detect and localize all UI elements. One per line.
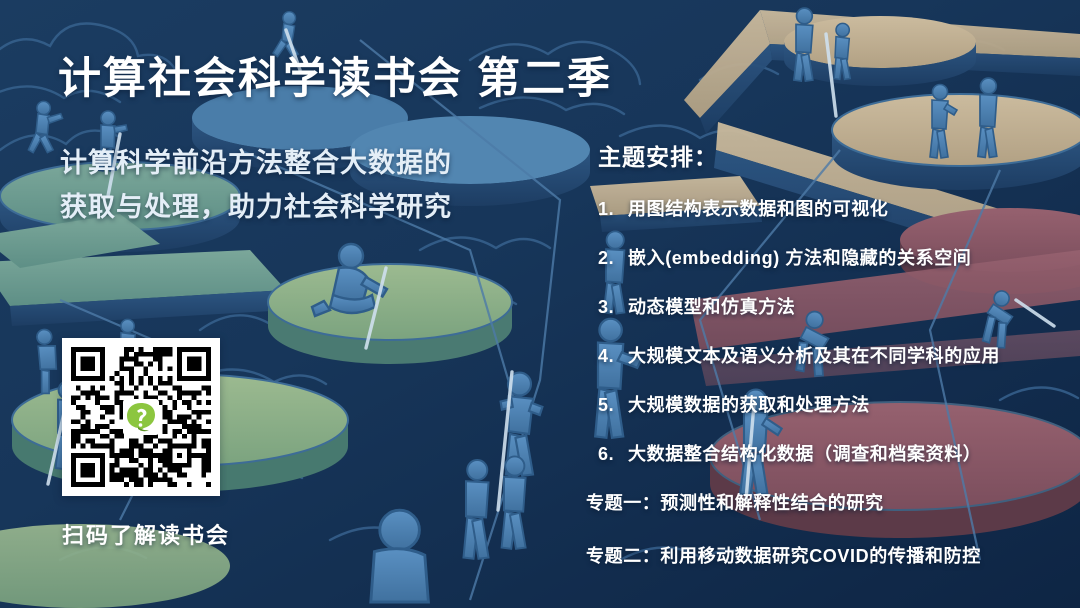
qr-center-logo [123,399,159,435]
agenda-item-3: 3. 动态模型和仿真方法 [598,293,1068,319]
page-subtitle: 计算科学前沿方法整合大数据的 获取与处理，助力社会科学研究 [60,142,452,229]
agenda-item-number: 4. [598,346,628,367]
agenda-item-2: 2. 嵌入(embedding) 方法和隐藏的关系空间 [598,244,1068,270]
agenda-special-topic-2: 专题二：利用移动数据研究COVID的传播和防控 [586,542,1068,568]
subtitle-line-1: 计算科学前沿方法整合大数据的 [60,142,452,186]
agenda-item-5: 5. 大规模数据的获取和处理方法 [598,391,1068,417]
agenda-special-topic-1: 专题一：预测性和解释性结合的研究 [586,489,1068,515]
qr-block: 扫码了解读书会 [62,338,230,550]
agenda-item-4: 4. 大规模文本及语义分析及其在不同学科的应用 [598,342,1068,368]
agenda-item-number: 2. [598,248,628,269]
agenda-item-number: 5. [598,395,628,416]
poster-canvas: 计算社会科学读书会 第二季 计算科学前沿方法整合大数据的 获取与处理，助力社会科… [0,0,1080,608]
content-layer: 计算社会科学读书会 第二季 计算科学前沿方法整合大数据的 获取与处理，助力社会科… [0,0,1080,608]
agenda-item-label: 动态模型和仿真方法 [628,293,795,319]
subtitle-line-2: 获取与处理，助力社会科学研究 [60,186,452,230]
qr-code[interactable] [62,338,220,496]
agenda-heading: 主题安排： [598,138,1068,172]
agenda-item-label: 大规模文本及语义分析及其在不同学科的应用 [628,342,1000,368]
agenda-section: 主题安排： 1. 用图结构表示数据和图的可视化 2. 嵌入(embedding)… [598,138,1068,568]
agenda-item-label: 大数据整合结构化数据（调查和档案资料） [628,440,981,466]
agenda-item-label: 大规模数据的获取和处理方法 [628,391,870,417]
leaf-question-logo-icon [125,401,157,433]
agenda-item-label: 用图结构表示数据和图的可视化 [628,195,888,221]
qr-caption: 扫码了解读书会 [62,518,230,550]
page-title: 计算社会科学读书会 第二季 [58,56,612,102]
agenda-item-number: 3. [598,297,628,318]
agenda-item-number: 1. [598,199,628,220]
agenda-item-label: 嵌入(embedding) 方法和隐藏的关系空间 [628,244,971,270]
agenda-item-6: 6. 大数据整合结构化数据（调查和档案资料） [598,440,1068,466]
agenda-item-1: 1. 用图结构表示数据和图的可视化 [598,195,1068,221]
agenda-item-number: 6. [598,444,628,465]
